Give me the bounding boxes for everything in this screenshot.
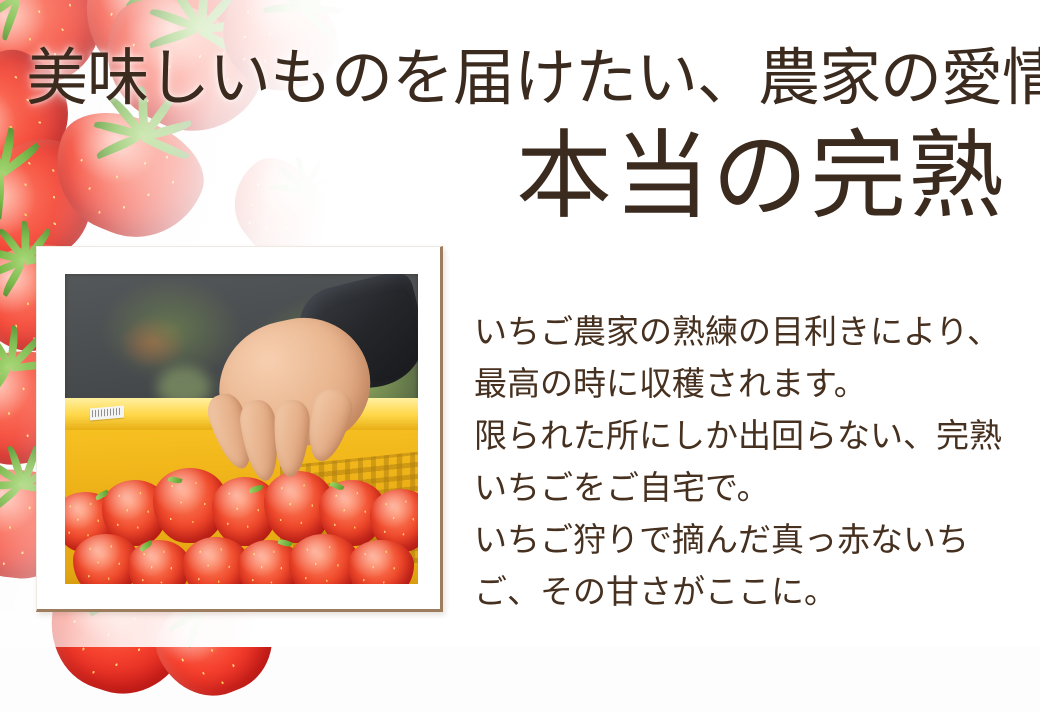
strawberry-icon (36, 94, 219, 258)
photo-strawberry (348, 540, 414, 584)
farmer-harvest-photo (65, 274, 418, 584)
body-description: いちご農家の熟練の目利きにより、最高の時に収穫されます。 限られた所にしか出回ら… (474, 307, 1026, 619)
headline-secondary: 本当の完熟 (516, 128, 1006, 226)
farmer-hand (206, 293, 411, 485)
promo-banner: 美味しいものを届けたい、農家の愛情 本当の完熟 (0, 0, 1040, 647)
headline-primary: 美味しいものを届けたい、農家の愛情 (26, 47, 1018, 112)
photo-frame (36, 246, 443, 612)
photo-strawberry (128, 540, 190, 584)
hand-finger (272, 400, 309, 478)
